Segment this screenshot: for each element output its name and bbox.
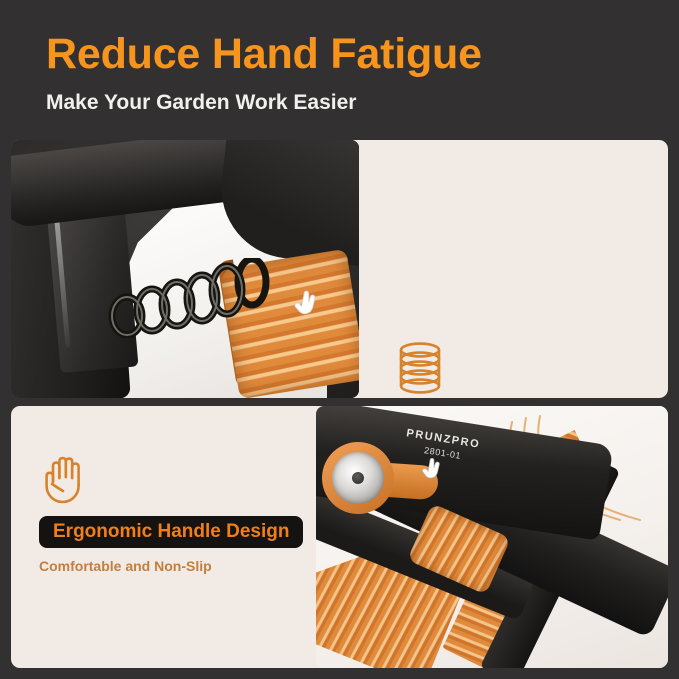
hand-cursor-icon [294,290,320,320]
feature-panel-spring: High Strength Spring Excellent Rebound P… [11,140,668,398]
photo-wheel-hub [352,472,364,484]
feature-panel-handle: Ergonomic Handle Design Comfortable and … [11,406,668,668]
open-hand-icon [39,452,93,510]
photo-coil-spring [107,258,277,338]
feature-text-spring: High Strength Spring Excellent Rebound P… [393,340,612,398]
feature-badge-handle: Ergonomic Handle Design [39,516,303,548]
header: Reduce Hand Fatigue Make Your Garden Wor… [0,0,679,132]
infographic-canvas: Reduce Hand Fatigue Make Your Garden Wor… [0,0,679,679]
page-title: Reduce Hand Fatigue [46,33,482,76]
feature-text-handle: Ergonomic Handle Design Comfortable and … [39,452,303,573]
feature-subtitle-handle: Comfortable and Non-Slip [39,559,303,573]
spring-mechanism-photo [11,140,359,398]
ergonomic-handle-photo: PRUNZPRO 2801-01 [316,406,668,668]
coil-spring-icon [393,340,447,398]
hand-cursor-icon [422,458,444,484]
page-subtitle: Make Your Garden Work Easier [46,92,356,113]
